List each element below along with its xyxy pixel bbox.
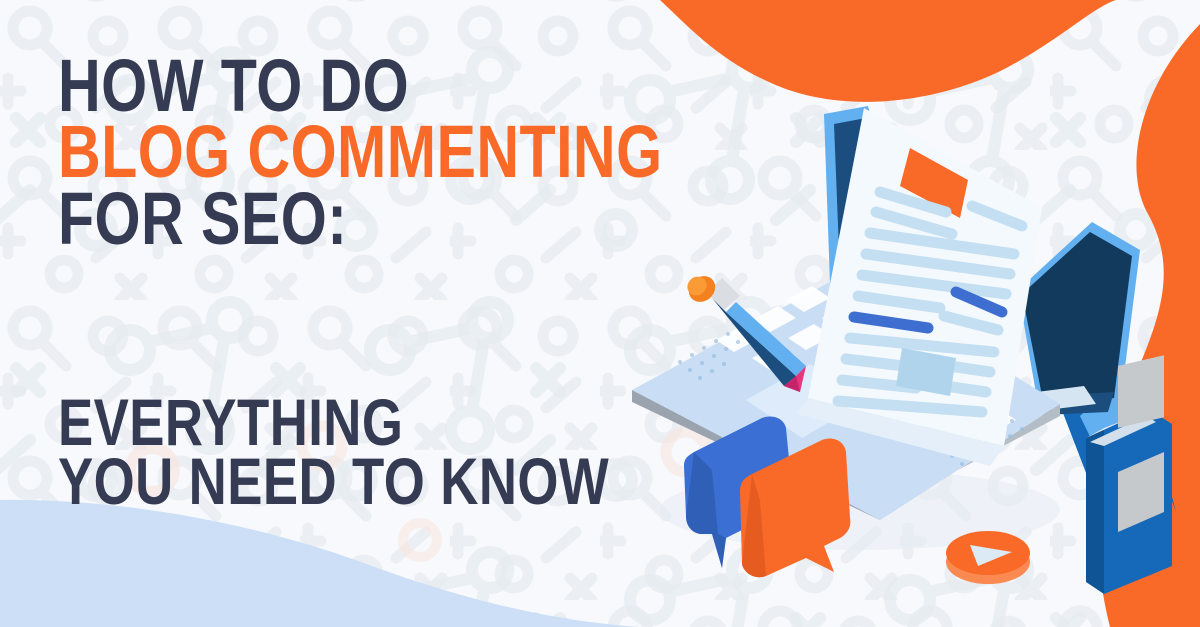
poster-canvas: HOW TO DO BLOG COMMENTING FOR SEO: EVERY… <box>0 0 1200 627</box>
headline-line-3: FOR SEO: <box>58 187 618 251</box>
cursor-disc <box>946 531 1030 584</box>
headline-line-1: HOW TO DO <box>58 54 618 118</box>
headline-line-5: YOU NEED TO KNOW <box>58 453 634 510</box>
book-spine <box>1086 428 1104 594</box>
headline-block-top: HOW TO DO BLOG COMMENTING FOR SEO: <box>58 54 758 281</box>
headline-line-2: BLOG COMMENTING <box>58 120 618 184</box>
book-label <box>1118 355 1164 428</box>
headline-line-4: EVERYTHING <box>58 394 634 451</box>
headline-block-bottom: EVERYTHING YOU NEED TO KNOW <box>58 394 778 510</box>
